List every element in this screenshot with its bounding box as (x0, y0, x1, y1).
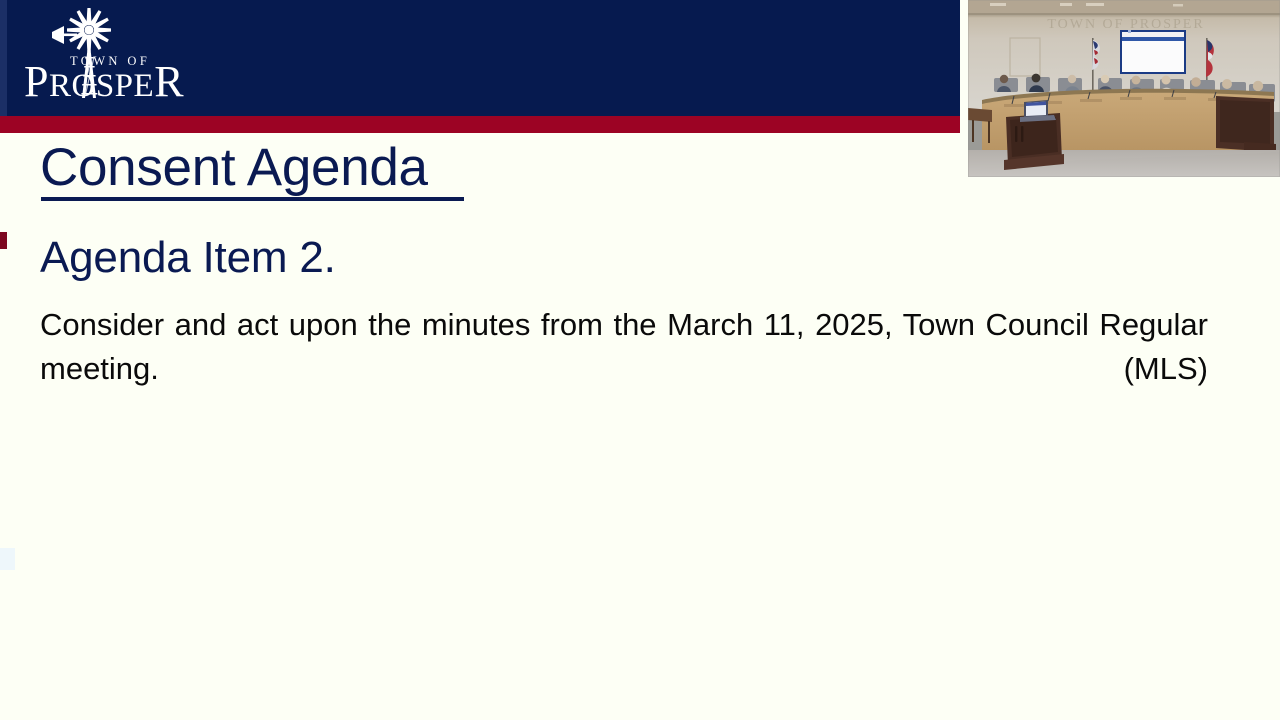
svg-text:TOWN OF PROSPER: TOWN OF PROSPER (1047, 17, 1204, 32)
logo-prosper-wordmark: PROSPER (24, 60, 184, 104)
slide-title-underline (41, 197, 464, 201)
logo-prosper-lead: P (24, 57, 49, 106)
logo-prosper-tail: R (154, 57, 184, 106)
video-frame: TOWN OF PROSPER (968, 0, 1280, 177)
town-of-prosper-logo: TOWN OF PROSPER (18, 2, 218, 106)
slide-subtitle: Agenda Item 2. (40, 235, 336, 281)
slide-body-text: Consider and act upon the minutes from t… (40, 303, 1208, 435)
left-edge-artifact (0, 548, 15, 570)
logo-prosper-rest: ROSPE (49, 68, 154, 104)
slide-title: Consent Agenda (40, 140, 428, 196)
header-accent-stripe-left-edge (0, 232, 7, 249)
header-accent-stripe (0, 116, 960, 133)
header-band-left-edge (0, 0, 7, 116)
council-chamber-video-feed[interactable]: TOWN OF PROSPER (968, 0, 1280, 177)
header-band: TOWN OF PROSPER (0, 0, 960, 116)
